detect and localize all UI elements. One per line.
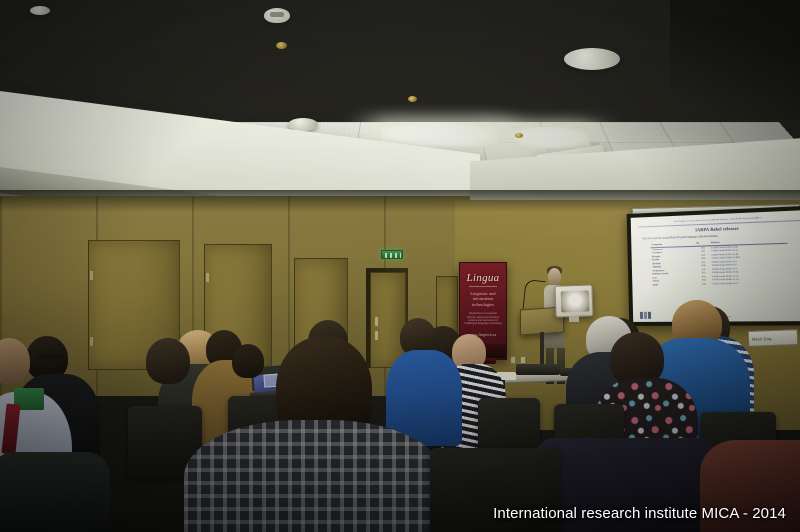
slide-table: Language id Release Cantonese 101 IARPA-… xyxy=(651,239,789,287)
glasses-icon xyxy=(38,354,64,358)
presentation-slide: Word Origins, Lexicon and Access to the … xyxy=(631,210,800,322)
cell-language: Zulu xyxy=(652,282,697,286)
wall-plaque: Mech Eng xyxy=(748,329,799,347)
sprinkler-icon xyxy=(276,42,287,49)
conference-room-photo: Word Origins, Lexicon and Access to the … xyxy=(0,0,800,532)
exit-sign xyxy=(381,250,403,259)
sprinkler-icon xyxy=(408,96,417,102)
attendee-head xyxy=(232,344,264,378)
sprinkler-icon xyxy=(515,133,523,138)
ceiling-speaker-icon xyxy=(564,48,620,70)
monitor-screen xyxy=(561,290,590,312)
banner-logo: Lingua xyxy=(460,272,506,284)
foreground-attendee xyxy=(0,452,110,532)
attendee-plaid xyxy=(184,420,444,532)
door-hinge-icon xyxy=(206,273,209,282)
door-hinge-icon xyxy=(90,271,93,280)
door-panel[interactable] xyxy=(370,272,406,368)
smoke-detector-icon xyxy=(264,8,290,23)
banner-body-text: Department of computer science, speech p… xyxy=(460,312,506,326)
confidence-monitor xyxy=(554,284,593,317)
door-handle-icon[interactable] xyxy=(375,317,378,326)
door-hinge-icon xyxy=(90,337,93,346)
banner-headline: Linguistic and information technologies xyxy=(460,291,506,307)
attendee-head-tan xyxy=(146,338,190,384)
door-handle-icon[interactable] xyxy=(375,331,378,340)
speaker-head xyxy=(548,268,561,285)
banner-divider xyxy=(469,286,497,287)
monitor-stand xyxy=(569,316,579,322)
cell-id: 206 xyxy=(696,282,711,286)
photo-caption: International research institute MICA - … xyxy=(493,505,786,522)
wall-socket[interactable] xyxy=(510,356,516,364)
wall-socket[interactable] xyxy=(520,356,526,364)
cell-release: IARPA-babel206b-v0.1e xyxy=(711,281,788,286)
ceiling-speaker-icon xyxy=(30,6,50,15)
ceiling-dark-corner xyxy=(670,0,800,120)
microphone-stand xyxy=(522,279,545,311)
slide-table-body: Cantonese 101 IARPA-babel101b-v0.4c Assa… xyxy=(651,243,789,287)
projection-screen-surface: Word Origins, Lexicon and Access to the … xyxy=(631,210,800,322)
av-equipment xyxy=(516,364,560,375)
slide-logo-icon xyxy=(640,312,651,319)
